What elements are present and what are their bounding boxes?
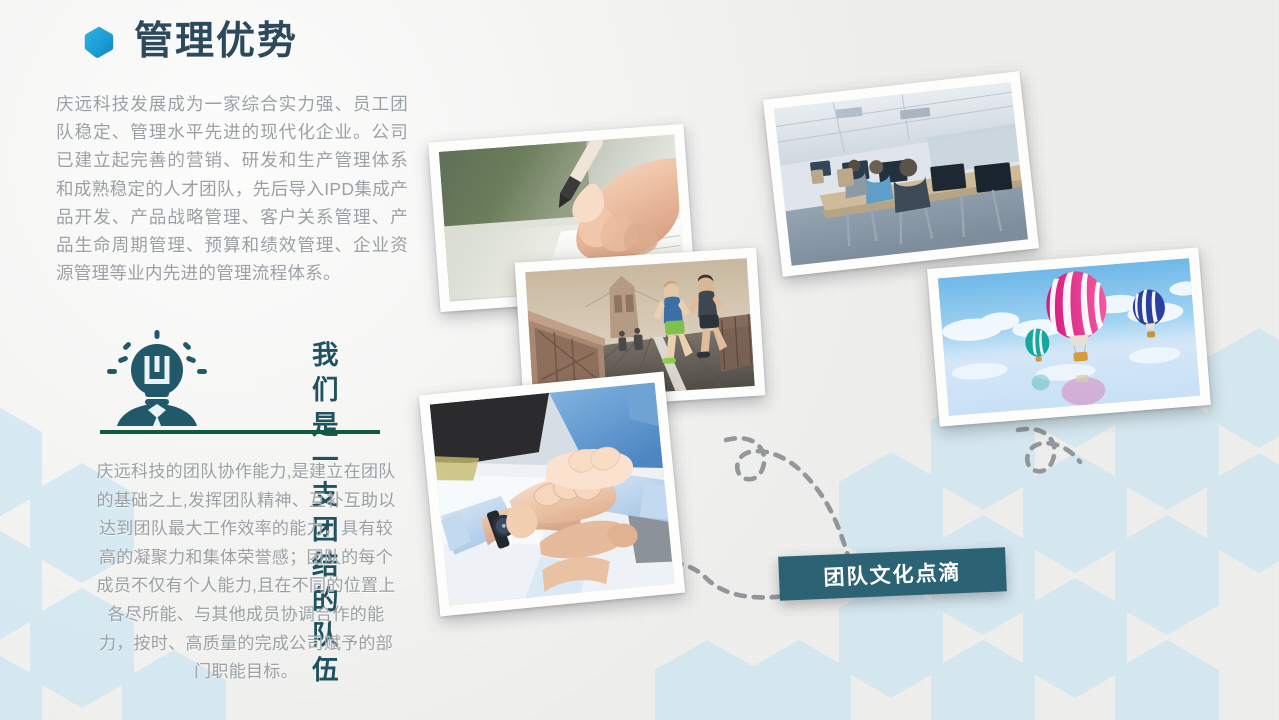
teamwork-hands-photo	[419, 372, 685, 617]
badge-underline	[100, 430, 380, 434]
lightbulb-head-person-icon	[103, 330, 211, 426]
page-title: 管理优势	[134, 22, 298, 61]
slide-canvas: 管理优势 庆远科技发展成为一家综合实力强、员工团队稳定、管理水平先进的现代化企业…	[0, 0, 1279, 720]
teamwork-paragraph: 庆远科技的团队协作能力,是建立在团队的基础之上,发挥团队精神、互补互助以达到团队…	[96, 458, 396, 687]
hexagon-icon	[84, 25, 114, 59]
ribbon-label: 团队文化点滴	[823, 556, 962, 592]
hot-air-balloons-photo	[927, 247, 1211, 426]
page-header: 管理优势	[84, 22, 298, 61]
intro-paragraph: 庆远科技发展成为一家综合实力强、员工团队稳定、管理水平先进的现代化企业。公司已建…	[56, 90, 408, 287]
ribbon-banner: 团队文化点滴	[778, 547, 1007, 600]
office-workstations-photo	[763, 71, 1039, 277]
